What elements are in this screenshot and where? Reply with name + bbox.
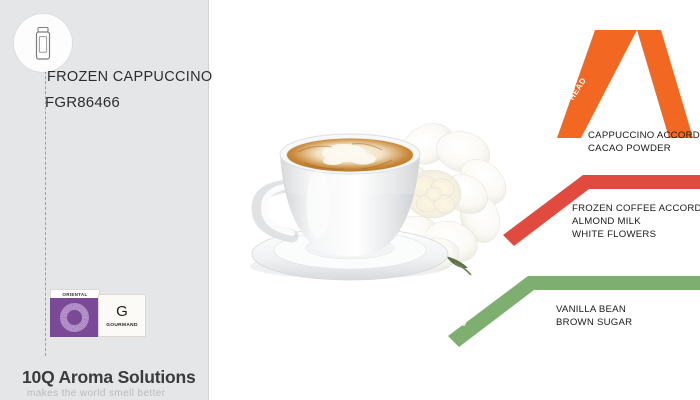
page-title: FROZEN CAPPUCCINO [47,69,212,85]
brand-name: 10Q Aroma Solutions [22,367,196,388]
product-code: FGR86466 [45,94,120,111]
gourmand-ring-icon [60,303,89,332]
brand-tagline: makes the world smell better [27,388,165,399]
bottle-icon [14,14,72,72]
note-item: CACAO POWDER [588,142,700,155]
note-item: VANILLA BEAN [556,303,632,316]
badge-letter: G [116,304,128,319]
badge-family-label: ORIENTAL [62,293,87,298]
note-item: BROWN SUGAR [556,316,632,329]
badge-icon-panel [50,298,98,337]
note-list-heart: FROZEN COFFEE ACCORD ALMOND MILK WHITE F… [572,202,700,242]
fragrance-pyramid [440,18,700,348]
note-item: CAPPUCCINO ACCORD [588,129,700,142]
note-item: WHITE FLOWERS [572,228,700,241]
badge-word: GOURMAND [106,323,138,328]
note-item: FROZEN COFFEE ACCORD [572,202,700,215]
fragrance-spec-sheet: FROZEN CAPPUCCINO FGR86466 ORIENTAL G GO… [0,0,700,400]
note-list-base: VANILLA BEAN BROWN SUGAR [556,303,632,329]
panel-divider [208,0,209,400]
note-list-head: CAPPUCCINO ACCORD CACAO POWDER [588,129,700,155]
fragrance-family-badge: ORIENTAL G GOURMAND [50,289,146,337]
note-item: ALMOND MILK [572,215,700,228]
badge-letter-panel: G GOURMAND [98,294,146,337]
